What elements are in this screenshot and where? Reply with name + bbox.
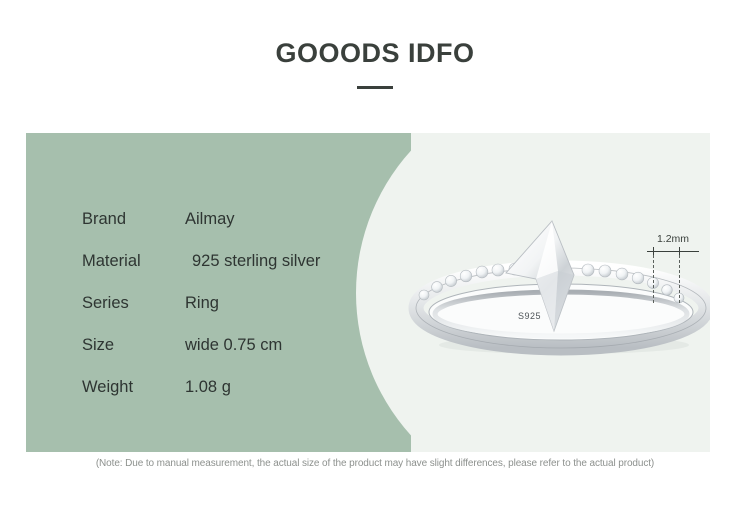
spec-row-brand: Brand Ailmay <box>82 198 402 240</box>
spec-row-size: Size wide 0.75 cm <box>82 324 402 366</box>
spec-label-size: Size <box>82 324 114 366</box>
dimension-bar <box>647 251 699 252</box>
title-divider <box>357 86 393 89</box>
dimension-annotation: 1.2mm <box>636 233 710 305</box>
product-info-card: Brand Ailmay Material 925 sterling silve… <box>26 133 710 452</box>
spec-label-weight: Weight <box>82 366 133 408</box>
product-photo: S925 <box>386 133 710 452</box>
spec-value-series: Ring <box>185 282 219 324</box>
spec-label-series: Series <box>82 282 129 324</box>
spec-value-weight: 1.08 g <box>185 366 231 408</box>
spec-row-weight: Weight 1.08 g <box>82 366 402 408</box>
spec-value-brand: Ailmay <box>185 198 235 240</box>
page-header: GOOODS IDFO <box>0 0 750 133</box>
spec-row-material: Material 925 sterling silver <box>82 240 402 282</box>
dimension-label: 1.2mm <box>636 233 710 245</box>
measurement-note: (Note: Due to manual measurement, the ac… <box>0 458 750 469</box>
spec-row-series: Series Ring <box>82 282 402 324</box>
dimension-leader-left <box>653 255 654 303</box>
spec-label-material: Material <box>82 240 141 282</box>
hallmark-text: S925 <box>518 311 541 321</box>
page-title: GOOODS IDFO <box>0 38 750 69</box>
spec-list: Brand Ailmay Material 925 sterling silve… <box>82 198 402 408</box>
spec-value-size: wide 0.75 cm <box>185 324 282 366</box>
dimension-leader-right <box>679 255 680 303</box>
spec-label-brand: Brand <box>82 198 126 240</box>
spec-value-material: 925 sterling silver <box>192 240 320 282</box>
